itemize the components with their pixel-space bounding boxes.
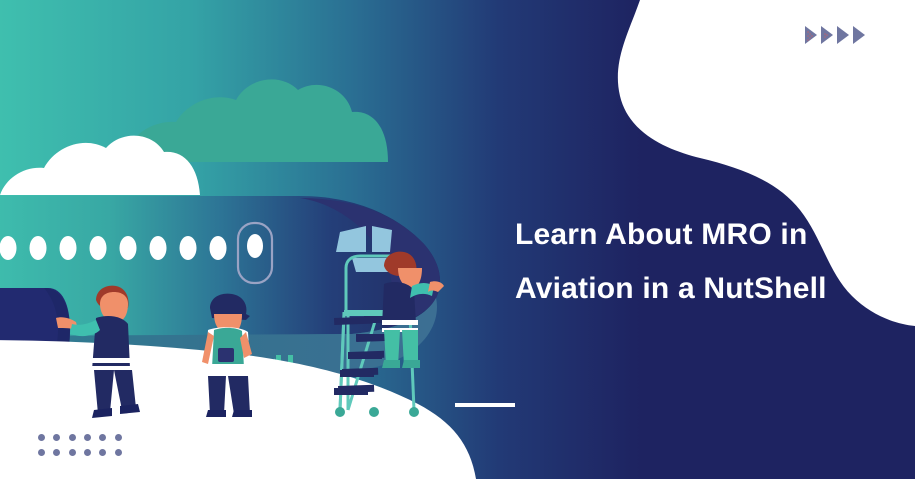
- dot-grid-decoration: [38, 434, 130, 464]
- dot-icon: [99, 449, 106, 456]
- worker3-torso: [382, 282, 416, 326]
- mro-aviation-banner: Learn About MRO in Aviation in a NutShel…: [0, 0, 915, 479]
- dot-icon: [69, 449, 76, 456]
- worker1-belt: [90, 358, 132, 363]
- dot-icon: [53, 449, 60, 456]
- triangle-right-icon: [804, 25, 818, 45]
- dot-icon: [84, 449, 91, 456]
- dot-icon: [115, 434, 122, 441]
- triangle-right-icon: [820, 25, 834, 45]
- dot-icon: [38, 434, 45, 441]
- arrow-cluster-decoration: [804, 24, 866, 46]
- dot-icon: [115, 449, 122, 456]
- triangle-right-icon: [836, 25, 850, 45]
- door-window: [247, 234, 263, 258]
- page-title: Learn About MRO in Aviation in a NutShel…: [515, 208, 905, 316]
- dot-icon: [53, 434, 60, 441]
- dot-icon: [69, 434, 76, 441]
- dot-icon: [99, 434, 106, 441]
- headline-line-2: Aviation in a NutShell: [515, 262, 905, 316]
- headline-line-1: Learn About MRO in: [515, 208, 905, 262]
- dot-icon: [38, 449, 45, 456]
- dot-icon: [84, 434, 91, 441]
- headline-underline-rule: [455, 403, 515, 407]
- worker3-belt: [382, 320, 418, 325]
- triangle-right-icon: [852, 25, 866, 45]
- worker2-belt: [206, 364, 250, 369]
- worker2-clipboard: [218, 348, 234, 362]
